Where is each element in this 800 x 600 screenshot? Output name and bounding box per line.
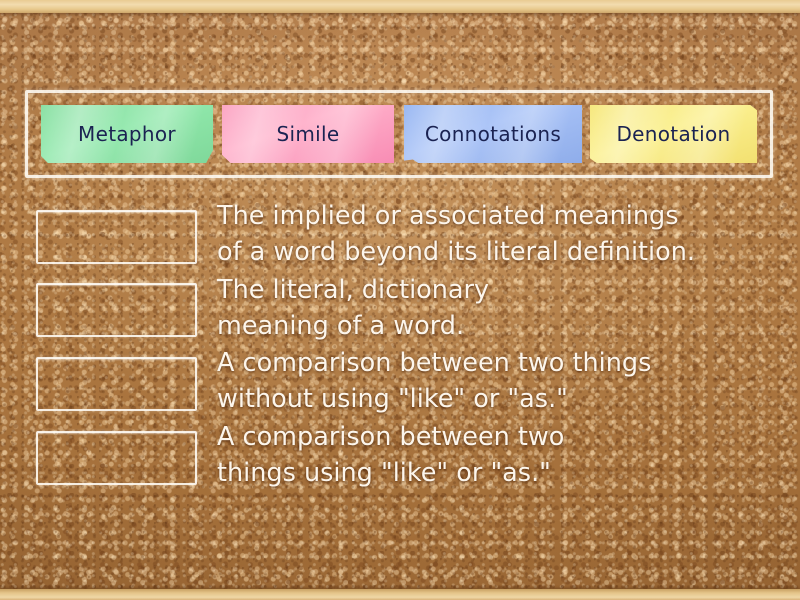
drop-slot-row-4[interactable] <box>36 431 197 485</box>
definition-line: A comparison between two things <box>217 345 777 381</box>
tile-label: Metaphor <box>72 122 182 146</box>
tile-label: Simile <box>271 122 346 146</box>
definition-row-1: The implied or associated meanings of a … <box>217 198 777 270</box>
draggable-tile-metaphor[interactable]: Metaphor <box>41 105 213 163</box>
match-up-activity-board: Metaphor Simile Connotations Denotation … <box>0 0 800 600</box>
definition-line: The literal, dictionary <box>217 272 777 308</box>
board-frame-top <box>0 0 800 13</box>
drop-slot-row-1[interactable] <box>36 210 197 264</box>
definition-row-2: The literal, dictionary meaning of a wor… <box>217 272 777 344</box>
definition-line: A comparison between two <box>217 419 777 455</box>
definition-row-4: A comparison between two things using "l… <box>217 419 777 491</box>
drop-slot-row-3[interactable] <box>36 357 197 411</box>
definition-line: The implied or associated meanings <box>217 198 777 234</box>
definition-line: without using "like" or "as." <box>217 381 777 417</box>
definition-line: meaning of a word. <box>217 308 777 344</box>
draggable-tile-connotations[interactable]: Connotations <box>404 105 582 163</box>
tile-label: Connotations <box>419 122 567 146</box>
board-frame-bottom <box>0 589 800 600</box>
definition-line: things using "like" or "as." <box>217 455 777 491</box>
definition-row-3: A comparison between two things without … <box>217 345 777 417</box>
drop-slot-row-2[interactable] <box>36 283 197 337</box>
draggable-tile-denotation[interactable]: Denotation <box>590 105 757 163</box>
tile-label: Denotation <box>610 122 736 146</box>
draggable-tile-simile[interactable]: Simile <box>222 105 394 163</box>
definition-line: of a word beyond its literal definition. <box>217 234 777 270</box>
